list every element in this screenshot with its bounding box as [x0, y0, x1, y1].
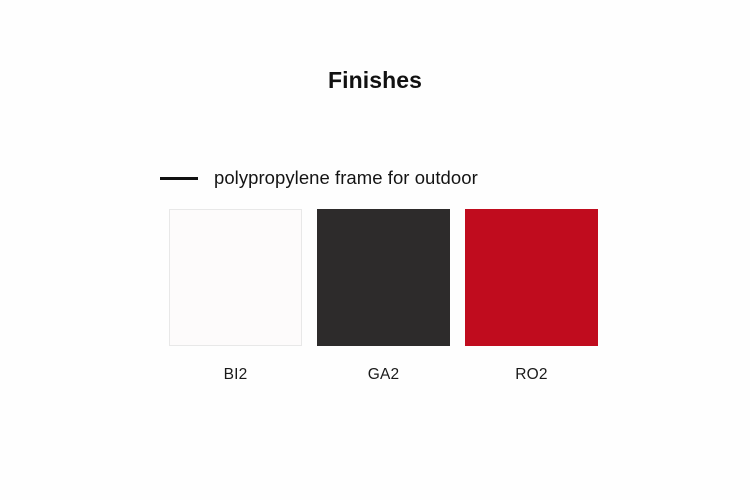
swatch-item-bi2[interactable]: BI2: [169, 209, 302, 385]
finishes-panel: Finishes polypropylene frame for outdoor…: [0, 0, 750, 500]
legend-label: polypropylene frame for outdoor: [214, 167, 478, 189]
page-title: Finishes: [0, 68, 750, 93]
swatch-chip-ro2[interactable]: [465, 209, 598, 346]
legend: polypropylene frame for outdoor: [160, 166, 478, 190]
swatch-label-ga2: GA2: [368, 366, 400, 385]
swatch-item-ga2[interactable]: GA2: [317, 209, 450, 385]
swatch-item-ro2[interactable]: RO2: [465, 209, 598, 385]
swatch-label-ro2: RO2: [515, 366, 547, 385]
swatch-chip-bi2[interactable]: [169, 209, 302, 346]
swatch-list: BI2 GA2 RO2: [169, 209, 598, 385]
horizontal-line-icon: [160, 177, 198, 180]
swatch-label-bi2: BI2: [224, 366, 248, 385]
swatch-chip-ga2[interactable]: [317, 209, 450, 346]
